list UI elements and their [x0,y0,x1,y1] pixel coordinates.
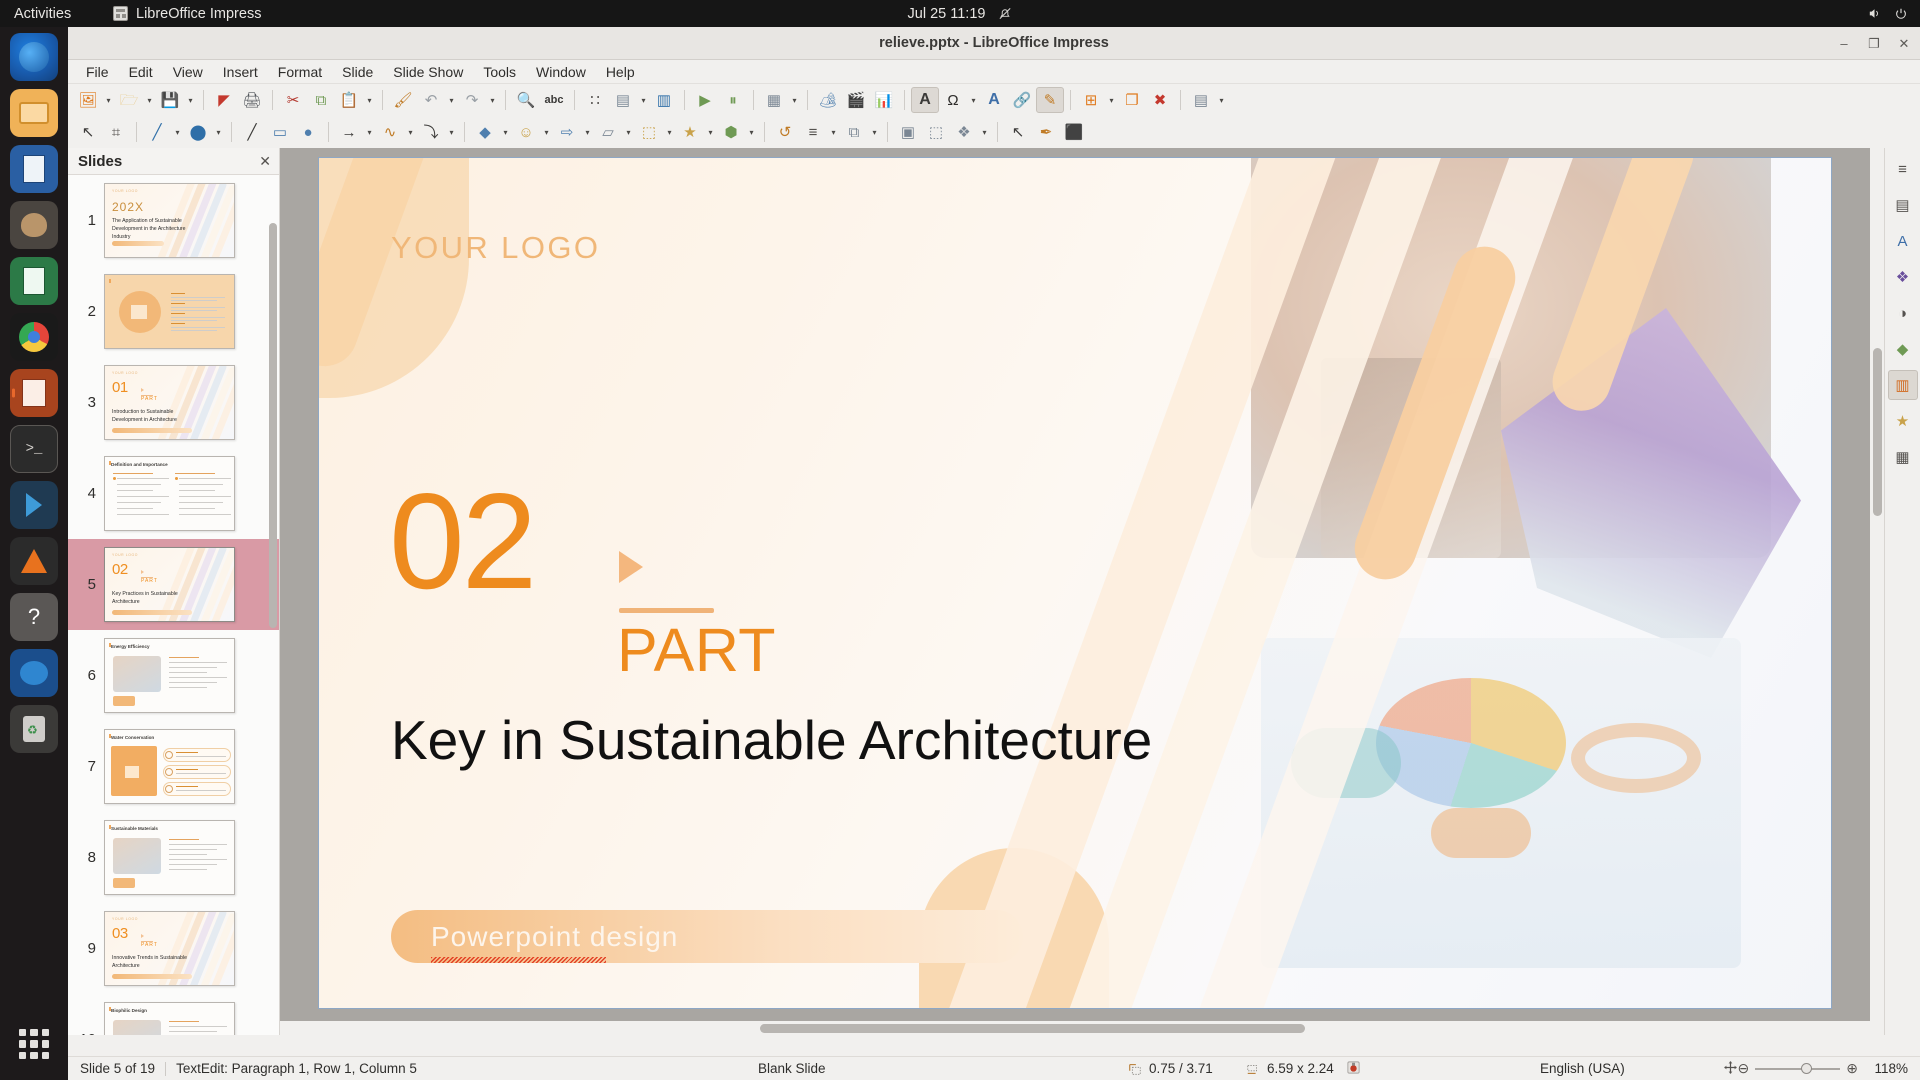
status-language[interactable]: English (USA) [1540,1061,1625,1076]
insert-line-icon-glyph: ╱ [247,125,256,140]
crop-image-icon-glyph: ⬚ [929,125,943,140]
master-slide-icon-glyph: ▥ [657,93,671,108]
status-cursor-position: 0.75 / 3.71 [1128,1061,1213,1076]
align-objects-dropdown-arrow[interactable]: ▾ [827,119,840,145]
insert-special-character-icon[interactable]: Ω [939,87,967,113]
block-arrows-icon[interactable]: ⇨ [553,119,581,145]
slide-thumbnail-item-2[interactable]: 2 [68,266,279,357]
slide-thumbnail-preview[interactable]: YOUR LOGO202XThe Application of Sustaina… [104,183,235,258]
calc-icon [23,267,45,295]
curves-and-polygons-dropdown-arrow[interactable]: ▾ [404,119,417,145]
display-grid-icon[interactable]: ∷ [581,87,609,113]
slide-thumbnail-preview[interactable]: Definition and Importance [104,456,235,531]
menu-slide-show[interactable]: Slide Show [383,62,473,82]
impress-icon [22,379,46,407]
footer-pill[interactable]: Powerpoint design [391,910,1023,963]
slide-thumbnail-number: 6 [74,667,96,684]
3d-objects-icon-glyph: ⬢ [724,125,737,140]
app-indicator[interactable]: LibreOffice Impress [113,6,261,22]
display-views-dropdown-arrow[interactable]: ▾ [637,87,650,113]
sidebar-properties-icon[interactable]: ▤ [1888,190,1918,220]
arrange-icon-glyph: ⧉ [849,125,860,140]
dock-item-files[interactable] [10,89,58,137]
basic-shapes-dropdown-arrow[interactable]: ▾ [499,119,512,145]
slide-thumbnail-number: 9 [74,940,96,957]
menu-insert[interactable]: Insert [213,62,268,82]
flowchart-shapes-icon-glyph: ▱ [602,125,614,140]
sidebar-settings-icon[interactable]: ≡ [1888,154,1918,184]
start-from-first-slide-icon[interactable]: ▶ [691,87,719,113]
start-from-first-slide-icon-glyph: ▶ [699,93,711,108]
spelling-icon-glyph: abc [545,95,564,106]
toolbar-separator [328,122,329,142]
fit-slide-to-window-icon[interactable] [1723,1060,1738,1078]
vscode-icon [26,493,42,517]
redo-dropdown-arrow[interactable]: ▾ [486,87,499,113]
size-icon [1246,1062,1260,1076]
minimize-button[interactable]: – [1836,36,1852,52]
grid-dot [30,1029,37,1036]
status-edit-info: TextEdit: Paragraph 1, Row 1, Column 5 [176,1061,417,1076]
ellipse-icon-glyph: ● [303,125,312,140]
sidebar-shapes-icon-glyph: ◆ [1897,340,1909,358]
duplicate-slide-icon[interactable]: ❐ [1118,87,1146,113]
callout-shapes-dropdown-arrow[interactable]: ▾ [663,119,676,145]
slide-thumbnail-preview[interactable]: Biophilic Design [104,1002,235,1035]
menu-view[interactable]: View [163,62,213,82]
rectangle-icon[interactable]: ▭ [266,119,294,145]
redo-icon[interactable]: ↷ [458,87,486,113]
slide-thumbnail-list[interactable]: 1YOUR LOGO202XThe Application of Sustain… [68,174,279,1035]
insert-table-icon-glyph: ▦ [767,93,781,108]
connectors-icon-glyph: ⤵ [423,125,438,140]
slide-layout-icon-glyph: ▤ [1194,93,1208,108]
part-label[interactable]: PART [617,620,776,681]
sidebar-animation-icon-glyph: ★ [1896,412,1909,430]
clock-label: Jul 25 11:19 [908,6,986,22]
sidebar-settings-icon-glyph: ≡ [1898,161,1907,178]
impress-window: relieve.pptx - LibreOffice Impress – ❐ ✕… [68,27,1920,1080]
toolbar-separator [1070,90,1071,110]
gnome-top-bar: Activities LibreOffice Impress Jul 25 11… [0,0,1920,27]
sidebar-transition-icon-glyph: ◑ [1898,305,1907,322]
slide-thumbnail-preview[interactable] [104,274,235,349]
ubuntu-dock: >_ ? ♻ [0,27,68,1080]
slide-logo-text[interactable]: YOUR LOGO [391,230,600,266]
insert-line-icon[interactable]: ╱ [238,119,266,145]
sidebar-master-slides-icon[interactable]: ▦ [1888,442,1918,472]
new-slide-icon[interactable]: ⊞ [1077,87,1105,113]
arrange-dropdown-arrow[interactable]: ▾ [868,119,881,145]
basic-shapes-icon[interactable]: ◆ [471,119,499,145]
footer-pill-text: Powerpoint design [431,921,678,953]
slide-thumbnail-number: 7 [74,758,96,775]
toolbar-separator [231,122,232,142]
dock-item-calc[interactable] [10,257,58,305]
start-from-current-slide-icon[interactable]: ⏸ [719,87,747,113]
insert-hyperlink-icon[interactable]: 🔗 [1008,87,1036,113]
symbol-shapes-icon[interactable]: ☺ [512,119,540,145]
lines-and-arrows-dropdown-arrow[interactable]: ▾ [363,119,376,145]
menu-help[interactable]: Help [596,62,645,82]
canvas-vscrollbar-thumb[interactable] [1873,348,1882,516]
clone-formatting-icon[interactable]: 🖌 [389,87,417,113]
grid-dot [42,1040,49,1047]
slide-panel-scrollbar-thumb[interactable] [269,223,277,628]
canvas-vertical-scrollbar[interactable] [1870,148,1884,1021]
slide-thumbnail-preview[interactable]: YOUR LOGO03PARTInnovative Trends in Sust… [104,911,235,986]
sidebar-deck: ≡▤A❖◑◆▥★▦ [1884,148,1920,1035]
stars-and-banners-icon-glyph: ★ [683,125,696,140]
insert-table-dropdown-arrow[interactable]: ▾ [788,87,801,113]
copy-icon[interactable]: ⧉ [307,87,335,113]
select-icon[interactable]: ↖ [74,119,102,145]
sidebar-animation-icon[interactable]: ★ [1888,406,1918,436]
slide-panel-title: Slides [78,153,122,170]
slide-thumbnail-preview[interactable]: Sustainable Materials [104,820,235,895]
undo-icon[interactable]: ↶ [417,87,445,113]
slide-thumbnail-preview[interactable]: YOUR LOGO02PARTKey Practices in Sustaina… [104,547,235,622]
select-icon-glyph: ↖ [82,125,95,140]
show-draw-functions-icon-glyph: ✎ [1044,93,1057,108]
redo-icon-glyph: ↷ [466,93,479,108]
master-slide-icon[interactable]: ▥ [650,87,678,113]
system-tray[interactable] [1867,6,1908,21]
slide-thumbnail-number: 5 [74,576,96,593]
open-file-dropdown-arrow[interactable]: ▾ [143,87,156,113]
points-icon-glyph: ↖ [1012,125,1025,140]
section-number[interactable]: 02 [389,473,534,609]
dock-item-impress[interactable] [10,369,58,417]
align-objects-icon[interactable]: ≡ [799,119,827,145]
toolbar-separator [203,90,204,110]
slide-thumbnail-item-7[interactable]: 7Water Conservation [68,721,279,812]
slide-panel-header: Slides ✕ [68,148,279,174]
new-presentation-icon-glyph: 🖼 [78,93,97,108]
sidebar-properties-icon-glyph: ▤ [1895,196,1909,214]
slide-thumbnail-item-6[interactable]: 6Energy Efficiency [68,630,279,721]
menu-file[interactable]: File [76,62,119,82]
show-applications-button[interactable] [10,1020,58,1068]
line-color-dropdown-arrow[interactable]: ▾ [171,119,184,145]
line-color-icon[interactable]: ╱ [143,119,171,145]
slide-layout-dropdown-arrow[interactable]: ▾ [1215,87,1228,113]
lines-and-arrows-icon-glyph: → [342,125,357,140]
display-grid-icon-glyph: ∷ [590,93,600,108]
paste-icon-glyph: 📋 [340,93,359,108]
status-slide-layout: Blank Slide [758,1061,826,1076]
slide-editor[interactable]: YOUR LOGO 02 PART Key in Sustainable Arc… [280,148,1884,1035]
dock-item-vscode[interactable] [10,481,58,529]
volume-icon [1867,6,1882,21]
dock-item-firefox[interactable] [10,33,58,81]
sidebar-styles-icon[interactable]: A [1888,226,1918,256]
callout-shapes-icon[interactable]: ⬚ [635,119,663,145]
sidebar-gallery-icon-glyph: ❖ [1896,268,1909,286]
symbol-shapes-dropdown-arrow[interactable]: ▾ [540,119,553,145]
current-slide-canvas[interactable]: YOUR LOGO 02 PART Key in Sustainable Arc… [319,158,1831,1008]
insert-special-character-icon-glyph: Ω [947,93,958,108]
shadow-icon-glyph: ▣ [901,125,915,140]
symbol-shapes-icon-glyph: ☺ [518,125,533,140]
rectangle-icon-glyph: ▭ [273,125,287,140]
maximize-button[interactable]: ❐ [1866,36,1882,52]
slide-title-text[interactable]: Key in Sustainable Architecture [391,703,1191,777]
connectors-icon[interactable]: ⤵ [417,119,445,145]
zoom-slider-knob[interactable] [1801,1063,1812,1074]
dock-item-writer[interactable] [10,145,58,193]
close-icon[interactable]: ✕ [259,153,271,170]
dock-item-terminal[interactable]: >_ [10,425,58,473]
slide-thumbnail-item-9[interactable]: 9YOUR LOGO03PARTInnovative Trends in Sus… [68,903,279,994]
toolbar-separator [136,122,137,142]
slide-thumbnail-preview[interactable]: Water Conservation [104,729,235,804]
filter-dropdown-arrow[interactable]: ▾ [978,119,991,145]
help-icon: ? [28,604,40,630]
grid-dot [19,1052,26,1059]
curves-and-polygons-icon[interactable]: ∿ [376,119,404,145]
points-icon[interactable]: ↖ [1004,119,1032,145]
insert-audio-video-icon-glyph: 🎬 [847,93,866,108]
insert-fontwork-icon-glyph: A [988,92,1000,108]
dock-item-trash[interactable]: ♻ [10,705,58,753]
slide-thumbnail-number: 10 [74,1031,96,1035]
toolbar-separator [272,90,273,110]
filter-icon[interactable]: ❖ [950,119,978,145]
dock-item-thunderbird[interactable] [10,649,58,697]
save-dropdown-arrow[interactable]: ▾ [184,87,197,113]
window-titlebar: relieve.pptx - LibreOffice Impress – ❐ ✕ [68,27,1920,60]
slide-layout-icon[interactable]: ▤ [1187,87,1215,113]
play-triangle-icon [619,551,643,583]
slide-thumbnail-number: 1 [74,212,96,229]
slide-thumbnail-item-4[interactable]: 4Definition and Importance [68,448,279,539]
rotate-icon[interactable]: ↺ [771,119,799,145]
gimp-icon [21,213,47,237]
slide-thumbnail-item-8[interactable]: 8Sustainable Materials [68,812,279,903]
callout-shapes-icon-glyph: ⬚ [642,125,656,140]
block-arrows-icon-glyph: ⇨ [561,125,574,140]
arrange-icon[interactable]: ⧉ [840,119,868,145]
insert-table-icon[interactable]: ▦ [760,87,788,113]
open-file-icon-glyph: 🗁 [120,93,139,108]
insert-special-character-dropdown-arrow[interactable]: ▾ [967,87,980,113]
status-object-size-value: 6.59 x 2.24 [1267,1061,1334,1076]
dock-item-vlc[interactable] [10,537,58,585]
insert-chart-icon[interactable]: 📊 [870,87,898,113]
bell-muted-icon [997,6,1012,21]
open-file-icon[interactable]: 🗁 [115,87,143,113]
decor-rule [619,608,714,613]
shadow-icon[interactable]: ▣ [894,119,922,145]
3d-objects-dropdown-arrow[interactable]: ▾ [745,119,758,145]
toolbar-separator [807,90,808,110]
toolbar-separator [574,90,575,110]
insert-image-icon-glyph: 🏕 [818,93,837,108]
status-cursor-position-value: 0.75 / 3.71 [1149,1061,1213,1076]
toolbar-separator [382,90,383,110]
menu-edit[interactable]: Edit [119,62,163,82]
new-presentation-dropdown-arrow[interactable]: ▾ [102,87,115,113]
cut-icon-glyph: ✂ [287,93,300,108]
drawing-toolbar: ↖⌗╱▾⬤▾╱▭●→▾∿▾⤵▾◆▾☺▾⇨▾▱▾⬚▾★▾⬢▾↺≡▾⧉▾▣⬚❖▾↖✒… [68,116,1920,148]
zoom-slider-group[interactable]: ⊖ ⊕ [1738,1060,1858,1077]
flowchart-shapes-icon[interactable]: ▱ [594,119,622,145]
glue-points-icon[interactable]: ✒ [1032,119,1060,145]
window-controls: – ❐ ✕ [1836,27,1912,60]
dock-item-help[interactable]: ? [10,593,58,641]
connectors-dropdown-arrow[interactable]: ▾ [445,119,458,145]
zoom-in-icon[interactable]: ⊕ [1846,1060,1858,1077]
grid-dot [30,1052,37,1059]
slide-thumbnail-number: 3 [74,394,96,411]
sidebar-transition-icon[interactable]: ◑ [1888,298,1918,328]
stars-and-banners-icon[interactable]: ★ [676,119,704,145]
grid-dot [42,1029,49,1036]
spelling-icon[interactable]: abc [540,87,568,113]
menu-tools[interactable]: Tools [473,62,526,82]
grid-dot [42,1052,49,1059]
close-button[interactable]: ✕ [1896,36,1912,52]
toolbar-separator [997,122,998,142]
menu-slide[interactable]: Slide [332,62,383,82]
toolbar-separator [753,90,754,110]
print-icon[interactable]: 🖨 [238,87,266,113]
show-draw-functions-icon[interactable]: ✎ [1036,87,1064,113]
basic-shapes-icon-glyph: ◆ [479,125,491,140]
insert-image-icon[interactable]: 🏕 [814,87,842,113]
insert-text-box-icon-glyph: A [919,92,931,108]
delete-slide-icon[interactable]: ✖ [1146,87,1174,113]
activities-button[interactable]: Activities [14,6,71,22]
position-icon [1128,1062,1142,1076]
insert-hyperlink-icon-glyph: 🔗 [1013,93,1032,108]
status-bar: Slide 5 of 19 TextEdit: Paragraph 1, Row… [68,1056,1920,1080]
save-icon[interactable]: 💾 [156,87,184,113]
toggle-extrusion-icon[interactable]: ⬛ [1060,119,1088,145]
duplicate-slide-icon-glyph: ❐ [1125,93,1138,108]
trash-icon: ♻ [23,716,45,742]
decor-blob-ring [1571,723,1701,793]
power-icon [1894,7,1908,21]
insert-text-box-icon[interactable]: A [911,87,939,113]
undo-dropdown-arrow[interactable]: ▾ [445,87,458,113]
menu-format[interactable]: Format [268,62,332,82]
vlc-icon [21,549,47,573]
toolbar-separator [684,90,685,110]
3d-objects-icon[interactable]: ⬢ [717,119,745,145]
paste-icon[interactable]: 📋 [335,87,363,113]
impress-app-icon [113,6,128,21]
line-color-icon-glyph: ╱ [152,125,161,140]
cut-icon[interactable]: ✂ [279,87,307,113]
window-title: relieve.pptx - LibreOffice Impress [879,35,1109,51]
new-slide-icon-glyph: ⊞ [1085,93,1098,108]
sidebar-gallery-icon[interactable]: ❖ [1888,262,1918,292]
sidebar-slide-icon[interactable]: ▥ [1888,370,1918,400]
toolbar-separator [505,90,506,110]
dock-item-chrome[interactable] [10,313,58,361]
status-zoom-level[interactable]: 118% [1874,1061,1908,1076]
paste-dropdown-arrow[interactable]: ▾ [363,87,376,113]
insert-audio-video-icon[interactable]: 🎬 [842,87,870,113]
find-replace-icon[interactable]: 🔍 [512,87,540,113]
app-indicator-label: LibreOffice Impress [136,6,261,22]
sidebar-slide-icon-glyph: ▥ [1895,376,1909,394]
delete-slide-icon-glyph: ✖ [1154,93,1167,108]
thunderbird-icon [20,661,48,685]
display-views-icon[interactable]: ▤ [609,87,637,113]
stars-and-banners-dropdown-arrow[interactable]: ▾ [704,119,717,145]
insert-fontwork-icon[interactable]: A [980,87,1008,113]
menu-bar: File Edit View Insert Format Slide Slide… [68,60,1920,84]
sidebar-shapes-icon[interactable]: ◆ [1888,334,1918,364]
divider [165,1062,166,1076]
start-from-current-slide-icon-glyph: ⏸ [729,93,737,108]
dock-item-gimp[interactable] [10,201,58,249]
fill-color-icon[interactable]: ⬤ [184,119,212,145]
slide-thumbnail-item-3[interactable]: 3YOUR LOGO01PARTIntroduction to Sustaina… [68,357,279,448]
grid-dot [19,1040,26,1047]
clock-area[interactable]: Jul 25 11:19 [908,6,1013,22]
toolbar-separator [464,122,465,142]
canvas-horizontal-scrollbar[interactable] [280,1021,1884,1035]
fill-color-icon-glyph: ⬤ [190,125,207,140]
standard-toolbar: 🖼▾🗁▾💾▾◤🖨✂⧉📋▾🖌↶▾↷▾🔍abc∷▤▾▥▶⏸▦▾🏕🎬📊AΩ▾A🔗✎⊞▾… [68,84,1920,116]
ellipse-icon[interactable]: ● [294,119,322,145]
find-replace-icon-glyph: 🔍 [517,93,536,108]
align-objects-icon-glyph: ≡ [809,125,818,140]
new-slide-dropdown-arrow[interactable]: ▾ [1105,87,1118,113]
menu-window[interactable]: Window [526,62,596,82]
unsaved-changes-icon[interactable] [1346,1060,1361,1078]
writer-icon [23,155,45,183]
zoom-and-pan-icon[interactable]: ⌗ [102,119,130,145]
zoom-slider-track[interactable] [1755,1068,1840,1070]
slide-thumbnail-number: 2 [74,303,96,320]
slide-thumbnail-item-5[interactable]: 5YOUR LOGO02PARTKey Practices in Sustain… [68,539,279,630]
running-indicator [12,389,15,398]
slide-thumbnail-item-10[interactable]: 10Biophilic Design [68,994,279,1035]
toolbar-separator [1180,90,1181,110]
export-pdf-icon[interactable]: ◤ [210,87,238,113]
lines-and-arrows-icon[interactable]: → [335,119,363,145]
crop-image-icon[interactable]: ⬚ [922,119,950,145]
canvas-hscrollbar-thumb[interactable] [760,1024,1305,1033]
toolbar-separator [764,122,765,142]
insert-chart-icon-glyph: 📊 [875,93,894,108]
fill-color-dropdown-arrow[interactable]: ▾ [212,119,225,145]
slide-thumbnail-preview[interactable]: Energy Efficiency [104,638,235,713]
grid-dot [19,1029,26,1036]
canvas-area: YOUR LOGO 02 PART Key in Sustainable Arc… [282,150,1870,1020]
undo-icon-glyph: ↶ [425,93,438,108]
spellcheck-squiggle [431,957,606,963]
flowchart-shapes-dropdown-arrow[interactable]: ▾ [622,119,635,145]
new-presentation-icon[interactable]: 🖼 [74,87,102,113]
rotate-icon-glyph: ↺ [779,125,792,140]
decor-blob-small-orange [1431,808,1531,858]
slide-thumbnail-number: 8 [74,849,96,866]
sidebar-master-slides-icon-glyph: ▦ [1895,448,1909,466]
slide-thumbnail-preview[interactable]: YOUR LOGO01PARTIntroduction to Sustainab… [104,365,235,440]
toolbar-separator [904,90,905,110]
block-arrows-dropdown-arrow[interactable]: ▾ [581,119,594,145]
work-area: Slides ✕ 1YOUR LOGO202XThe Application o… [68,148,1920,1035]
slide-thumbnail-item-1[interactable]: 1YOUR LOGO202XThe Application of Sustain… [68,175,279,266]
zoom-out-icon[interactable]: ⊖ [1738,1060,1750,1077]
slide-panel: Slides ✕ 1YOUR LOGO202XThe Application o… [68,148,280,1035]
